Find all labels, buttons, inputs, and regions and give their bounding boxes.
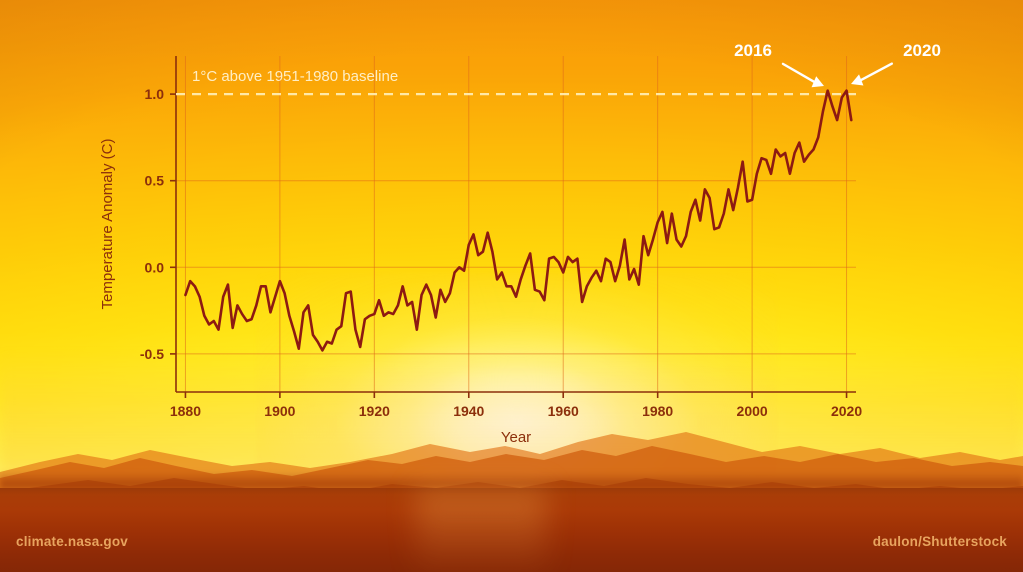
y-tick--0.5: -0.5 <box>140 346 164 362</box>
y-tick-0.0: 0.0 <box>145 259 165 275</box>
callout-arrow-2016 <box>783 64 814 82</box>
callout-label-2020: 2020 <box>903 41 941 60</box>
callout-arrow-2020 <box>861 64 892 80</box>
axis-ticks <box>170 94 847 398</box>
chart-axes <box>176 56 856 392</box>
x-tick-1900: 1900 <box>264 403 295 419</box>
temperature-anomaly-line <box>185 91 851 351</box>
y-tick-0.5: 0.5 <box>145 173 165 189</box>
vertical-gridlines <box>185 56 846 392</box>
y-tick-1.0: 1.0 <box>145 86 165 102</box>
source-credit-label: climate.nasa.gov <box>16 534 128 549</box>
y-axis-title: Temperature Anomaly (C) <box>99 139 116 310</box>
x-tick-2000: 2000 <box>737 403 768 419</box>
climate-temperature-anomaly-infographic: 18801900192019401960198020002020 -0.50.0… <box>0 0 1023 572</box>
y-axis-tick-labels: -0.50.00.51.0 <box>140 86 164 362</box>
x-tick-2020: 2020 <box>831 403 862 419</box>
x-axis-title: Year <box>501 429 531 446</box>
photo-credit-label: daulon/Shutterstock <box>873 534 1007 549</box>
horizontal-gridlines <box>176 181 856 354</box>
temperature-anomaly-chart: 18801900192019401960198020002020 -0.50.0… <box>0 0 1023 572</box>
callout-label-2016: 2016 <box>734 41 772 60</box>
x-tick-1920: 1920 <box>359 403 390 419</box>
x-tick-1960: 1960 <box>548 403 579 419</box>
x-tick-1940: 1940 <box>453 403 484 419</box>
baseline-annotation-label: 1°C above 1951-1980 baseline <box>192 68 398 85</box>
year-callout-annotations: 20162020 <box>734 41 941 87</box>
x-axis-tick-labels: 18801900192019401960198020002020 <box>170 403 862 419</box>
x-tick-1980: 1980 <box>642 403 673 419</box>
x-tick-1880: 1880 <box>170 403 201 419</box>
